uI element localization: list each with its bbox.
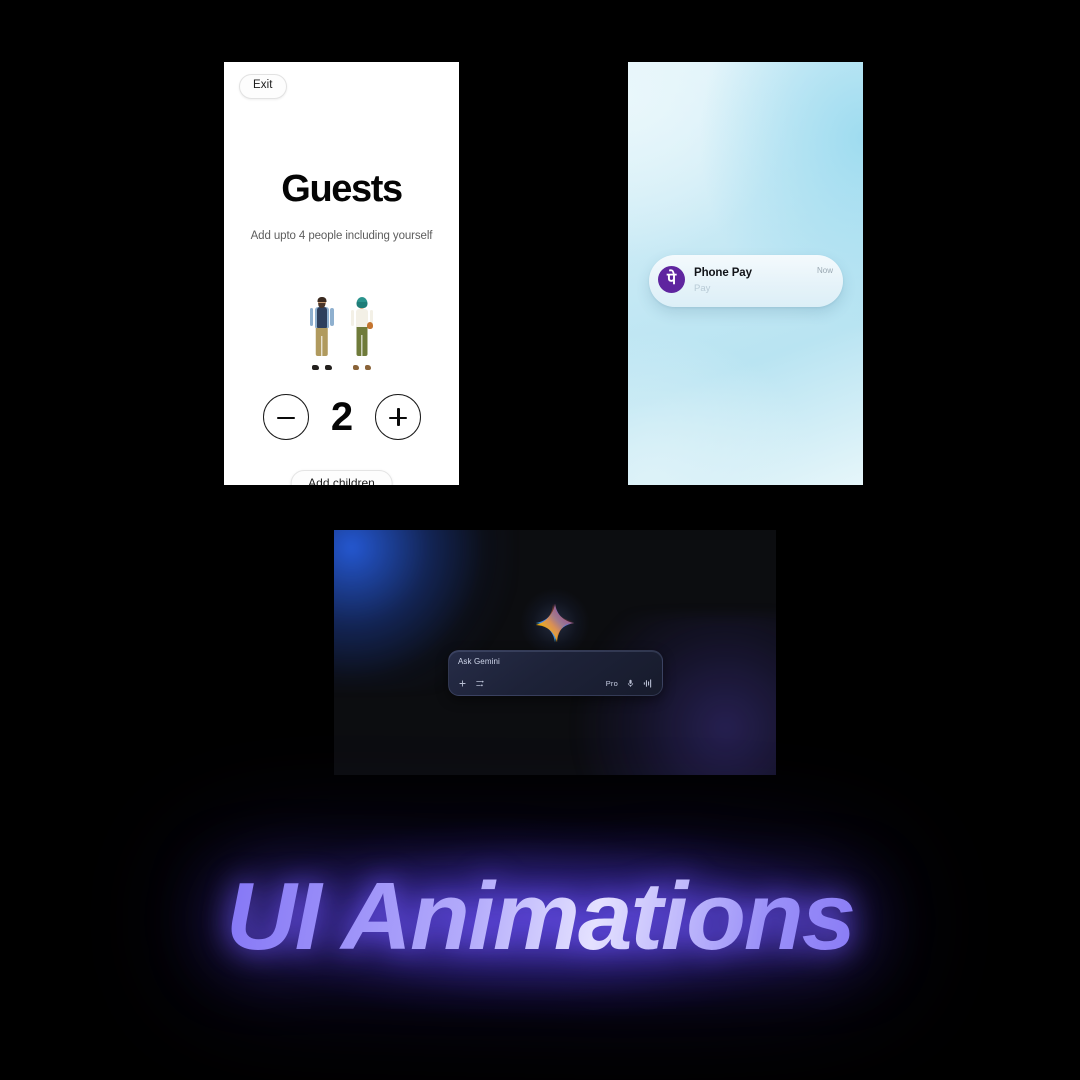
male-arm-left <box>310 308 314 326</box>
female-hair-top <box>357 297 367 302</box>
tune-icon[interactable] <box>475 679 485 688</box>
exit-button[interactable]: Exit <box>239 74 287 99</box>
female-bag <box>367 322 373 329</box>
male-arm-right <box>330 308 334 326</box>
gemini-screen-card: Ask Gemini Pro <box>334 530 776 775</box>
phonepay-logo-icon: पे <box>658 266 685 293</box>
male-leg-gap <box>321 336 322 356</box>
notification-body: Pay <box>694 284 817 294</box>
guest-count-stepper: 2 <box>224 393 459 441</box>
male-hair <box>317 297 326 302</box>
notification-app-name: Phone Pay <box>694 267 817 280</box>
guest-avatars <box>224 292 459 370</box>
waveform-icon[interactable] <box>643 678 653 689</box>
adult-female-avatar <box>349 296 375 370</box>
poster-canvas: Exit Guests Add upto 4 people including … <box>0 0 1080 1080</box>
guest-count-value: 2 <box>325 397 359 437</box>
male-shoe-left <box>312 365 319 370</box>
notification-text-block: Phone Pay Pay <box>694 264 817 294</box>
gemini-toolbar: Pro <box>458 678 653 689</box>
add-children-button[interactable]: Add children <box>290 470 393 485</box>
male-shoe-right <box>325 365 332 370</box>
female-shoe-right <box>365 365 371 370</box>
phonepay-notification[interactable]: पे Phone Pay Pay Now <box>649 255 843 307</box>
female-arm-left <box>351 310 354 326</box>
ask-gemini-placeholder: Ask Gemini <box>458 658 653 666</box>
guests-screen-card: Exit Guests Add upto 4 people including … <box>224 62 459 485</box>
female-top <box>356 309 368 327</box>
notification-timestamp: Now <box>817 264 833 275</box>
page-title: Guests <box>224 170 459 208</box>
mic-icon[interactable] <box>626 678 635 689</box>
decrement-guests-button[interactable] <box>263 394 309 440</box>
phonepay-glyph: पे <box>667 271 676 287</box>
poster-title: UI Animations <box>0 862 1080 972</box>
plus-icon[interactable] <box>458 679 467 688</box>
female-shoe-left <box>353 365 359 370</box>
female-leg-gap <box>361 335 362 356</box>
gemini-sparkle-icon <box>534 602 576 644</box>
male-beard <box>318 303 326 308</box>
adult-male-avatar <box>309 296 335 370</box>
ask-gemini-input[interactable]: Ask Gemini Pro <box>448 650 663 696</box>
notification-screen-card: पे Phone Pay Pay Now <box>628 62 863 485</box>
page-subtitle: Add upto 4 people including yourself <box>224 230 459 242</box>
model-badge-pro[interactable]: Pro <box>606 679 618 688</box>
increment-guests-button[interactable] <box>375 394 421 440</box>
male-vest <box>317 307 327 328</box>
